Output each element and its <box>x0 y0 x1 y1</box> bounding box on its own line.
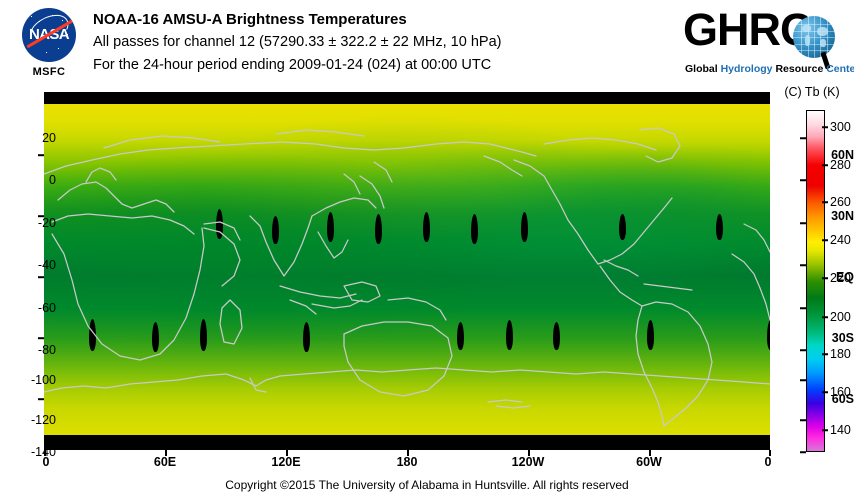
map-xtick-60w: 60W <box>636 455 662 469</box>
globe-icon <box>793 16 835 58</box>
colorbar-k-label-160: 160 <box>830 385 851 399</box>
colorbar-k-tick-180 <box>822 353 828 355</box>
colorbar-k-label-200: 200 <box>830 310 851 324</box>
colorbar-k-label-140: 140 <box>830 423 851 437</box>
nasa-center-label: MSFC <box>10 66 88 78</box>
ghrc-subtitle-word-3: Resource <box>775 63 823 75</box>
ghrc-subtitle-word-4: Center <box>826 63 854 75</box>
map-ytick-mark-eq <box>38 276 44 278</box>
colorbar-c-tick-m20 <box>800 222 806 224</box>
map-xtick-60e: 60E <box>154 455 176 469</box>
map-xtick-mark-180 <box>407 450 409 456</box>
map-xtick-180: 180 <box>397 455 418 469</box>
map-xtick-0w: 0 <box>765 455 772 469</box>
colorbar-k-label-260: 260 <box>830 195 851 209</box>
ghrc-logo: GHRC Global Hydrology Resource Center <box>683 8 849 80</box>
map-ytick-mark-30s <box>38 337 44 339</box>
colorbar-c-label-m20: -20 <box>38 216 56 230</box>
title-block: NOAA-16 AMSU-A Brightness Temperatures A… <box>93 8 693 77</box>
map-xtick-120w: 120W <box>512 455 545 469</box>
page-title: NOAA-16 AMSU-A Brightness Temperatures <box>93 8 693 31</box>
colorbar-k-tick-160 <box>822 391 828 393</box>
ghrc-subtitle-word-1: Global <box>685 63 718 75</box>
colorbar-c-label-m60: -60 <box>38 301 56 315</box>
map-xtick-mark-120e <box>286 450 288 456</box>
colorbar-c-tick-m140 <box>800 451 806 453</box>
colorbar-k-tick-280 <box>822 164 828 166</box>
colorbar-c-tick-m80 <box>800 349 806 351</box>
colorbar-c-label-m80: -80 <box>38 343 56 357</box>
map-ytick-mark-60s <box>38 398 44 400</box>
map-ytick-mark-60n <box>38 154 44 156</box>
colorbar-k-label-240: 240 <box>830 233 851 247</box>
colorbar-k-tick-200 <box>822 316 828 318</box>
map-plot-area <box>44 92 770 450</box>
map-xtick-mark-60w <box>649 450 651 456</box>
title-subtitle-period: For the 24-hour period ending 2009-01-24… <box>93 54 693 77</box>
coastline-overlay <box>44 104 770 435</box>
colorbar-c-tick-m60 <box>800 307 806 309</box>
colorbar-gradient <box>806 110 825 452</box>
colorbar-c-tick-20 <box>800 137 806 139</box>
colorbar-k-label-180: 180 <box>830 347 851 361</box>
map-xtick-mark-120w <box>528 450 530 456</box>
copyright-notice: Copyright ©2015 The University of Alabam… <box>0 478 854 492</box>
ghrc-subtitle-word-2: Hydrology <box>721 63 773 75</box>
colorbar-c-tick-0 <box>800 179 806 181</box>
map-xtick-120e: 120E <box>271 455 300 469</box>
colorbar-k-label-280: 280 <box>830 158 851 172</box>
map-xtick-mark-60e <box>165 450 167 456</box>
ghrc-lettermark: GHRC <box>683 4 812 56</box>
colorbar-c-label-20: 20 <box>42 131 56 145</box>
nasa-logo: NASA MSFC <box>10 6 86 84</box>
colorbar-k-tick-220 <box>822 277 828 279</box>
colorbar-c-label-m120: -120 <box>31 413 56 427</box>
colorbar-c-label-0: 0 <box>49 173 56 187</box>
colorbar-c-label-m40: -40 <box>38 258 56 272</box>
colorbar-k-label-300: 300 <box>830 120 851 134</box>
colorbar-k-label-220: 220 <box>830 271 851 285</box>
colorbar-c-tick-m100 <box>800 379 806 381</box>
colorbar-c-tick-m40 <box>800 264 806 266</box>
colorbar-header: (C) Tb (K) <box>770 85 854 99</box>
colorbar-c-label-m100: -100 <box>31 373 56 387</box>
map-xtick-mark-0w <box>769 450 771 456</box>
title-subtitle-channel: All passes for channel 12 (57290.33 ± 32… <box>93 31 693 54</box>
colorbar-c-label-m140: -140 <box>31 445 56 459</box>
colorbar-k-tick-260 <box>822 201 828 203</box>
nasa-disc: NASA <box>22 8 76 62</box>
colorbar-k-tick-140 <box>822 429 828 431</box>
colorbar-k-tick-240 <box>822 239 828 241</box>
ghrc-subtitle: Global Hydrology Resource Center <box>685 63 854 75</box>
colorbar-c-tick-m120 <box>800 419 806 421</box>
colorbar-k-tick-300 <box>822 126 828 128</box>
